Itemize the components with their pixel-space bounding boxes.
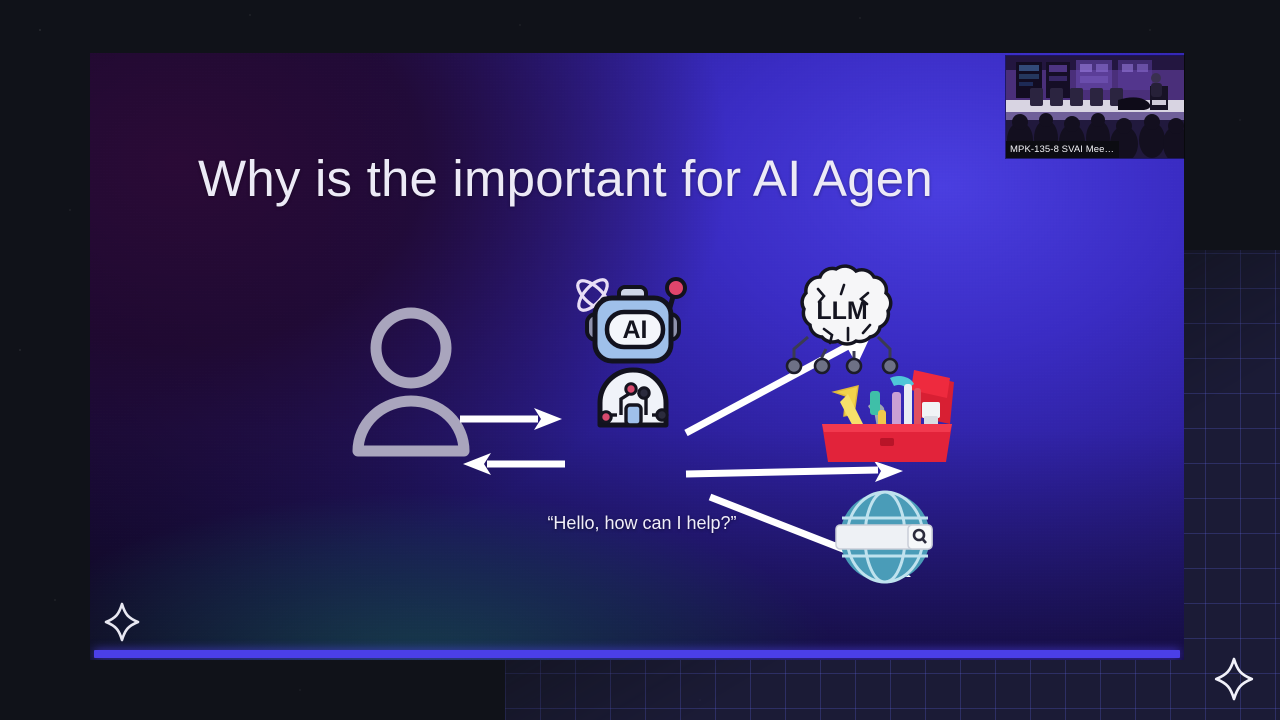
presentation-stage: Why is the important for AI Agen [0,0,1280,720]
sparkle-star-logo [104,602,140,642]
agent-speech-caption: “Hello, how can I help?” [502,513,782,534]
sparkle-star-logo-stage [1214,656,1254,702]
ai-robot-icon: AI [568,265,698,425]
arrow-agent-to-tools [686,461,906,483]
slide-progress-bar[interactable] [94,650,1180,658]
arrow-agent-to-user [460,453,565,475]
toolbox-icon [818,358,958,463]
globe-search-icon [830,485,940,590]
video-thumbnail-overlay[interactable]: MPK-135-8 SVAI Mee… [1006,56,1184,158]
arrow-user-to-agent [460,408,565,430]
robot-face-label: AI [623,316,648,344]
llm-label: LLM [816,297,867,325]
user-person-icon [346,303,476,453]
pip-room-label: MPK-135-8 SVAI Mee… [1006,141,1119,158]
